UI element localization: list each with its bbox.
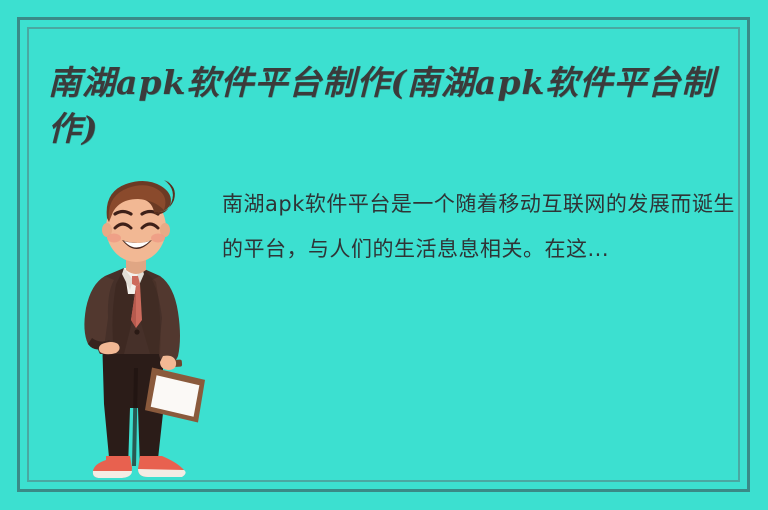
shoes-shape: [93, 456, 186, 478]
article-summary: 南湖apk软件平台是一个随着移动互联网的发展而诞生的平台，与人们的生活息息相关。…: [222, 182, 742, 272]
poster-canvas: 南湖apk软件平台制作(南湖apk软件平台制作) 南湖apk软件平台是一个随着移…: [0, 0, 768, 510]
page-title: 南湖apk软件平台制作(南湖apk软件平台制作): [48, 60, 738, 152]
businessman-illustration: [58, 168, 228, 490]
